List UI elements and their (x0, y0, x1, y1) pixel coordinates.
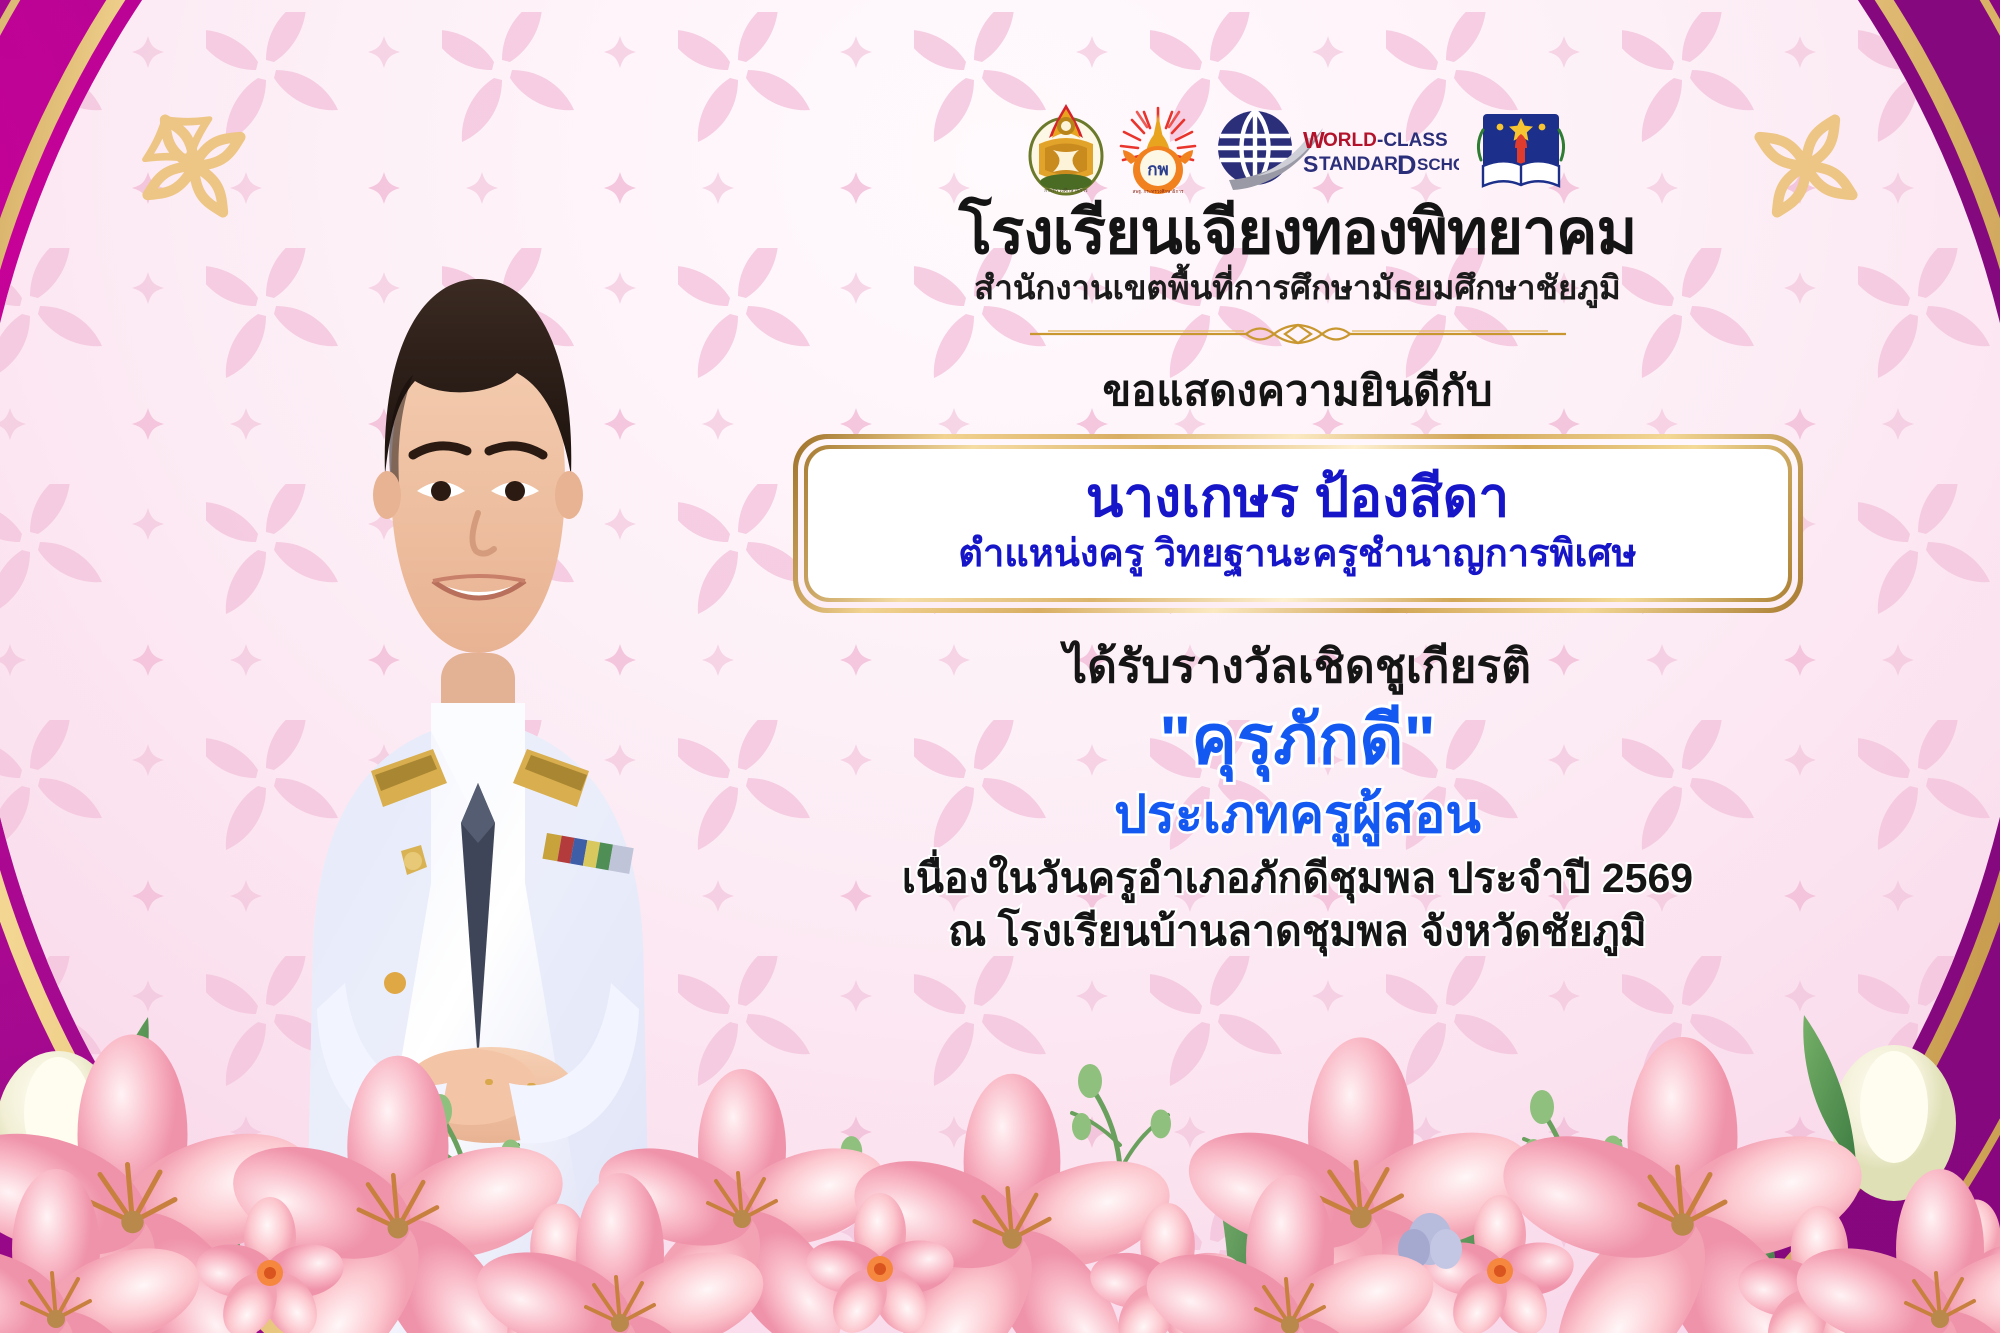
ornamental-divider (1018, 321, 1578, 347)
logo-row: กระทรวงศึกษาธิการ กพ (690, 96, 1905, 196)
svg-text:TANDAR: TANDAR (1319, 154, 1398, 175)
plaque-outer-gold-border: นางเกษร ป้องสีดา ตำแหน่งครู วิทยฐานะครูช… (793, 434, 1803, 612)
certificate-canvas: กระทรวงศึกษาธิการ กพ (0, 0, 2000, 1333)
recipient-position: ตำแหน่งครู วิทยฐานะครูชำนาญการพิเศษ (832, 532, 1764, 578)
school-authority: สำนักงานเขตพื้นที่การศึกษามัธยมศึกษาชัยภ… (690, 269, 1905, 307)
svg-text:กพ: กพ (1147, 160, 1169, 179)
recipient-name: นางเกษร ป้องสีดา (832, 465, 1764, 530)
certificate-content: กระทรวงศึกษาธิการ กพ (690, 96, 1905, 959)
award-intro: ได้รับรางวัลเชิดชูเกียรติ (690, 639, 1905, 694)
award-title: "คุรุภักดี" (690, 700, 1905, 782)
award-occasion: เนื่องในวันครูอำเภอภักดีชุมพล ประจำปี 25… (690, 852, 1905, 905)
ministry-of-education-emblem: กระทรวงศึกษาธิการ (1027, 100, 1105, 196)
svg-text:SCHOOL: SCHOOL (1417, 155, 1459, 174)
svg-text:S: S (1303, 151, 1318, 177)
world-class-standard-school-logo: W ORLD -CLASS S TANDAR D SCHOOL (1211, 104, 1459, 196)
svg-text:W: W (1303, 127, 1325, 153)
plaque-face: นางเกษร ป้องสีดา ตำแหน่งครู วิทยฐานะครูช… (808, 449, 1788, 597)
svg-text:สพฐ. กระทรวงศึกษาธิการ: สพฐ. กระทรวงศึกษาธิการ (1132, 189, 1183, 195)
plaque-inner-gold-border: นางเกษร ป้องสีดา ตำแหน่งครู วิทยฐานะครูช… (804, 445, 1792, 601)
congratulations-line: ขอแสดงความยินดีกับ (690, 366, 1905, 416)
award-category: ประเภทครูผู้สอน (690, 784, 1905, 846)
svg-text:D: D (1397, 150, 1417, 180)
school-crest-logo (1473, 104, 1569, 196)
school-name: โรงเรียนเจียงทองพิทยาคม (690, 200, 1905, 267)
plaque-gap: นางเกษร ป้องสีดา ตำแหน่งครู วิทยฐานะครูช… (798, 439, 1798, 607)
svg-text:ORLD: ORLD (1323, 130, 1377, 151)
recipient-plaque: นางเกษร ป้องสีดา ตำแหน่งครู วิทยฐานะครูช… (793, 434, 1803, 612)
svg-text:-CLASS: -CLASS (1377, 130, 1448, 151)
award-venue: ณ โรงเรียนบ้านลาดชุมพล จังหวัดชัยภูมิ (690, 905, 1905, 958)
obec-emblem: กพ สพฐ. กระทรวงศึกษาธิการ (1119, 100, 1197, 196)
svg-text:กระทรวงศึกษาธิการ: กระทรวงศึกษาธิการ (1044, 187, 1088, 194)
